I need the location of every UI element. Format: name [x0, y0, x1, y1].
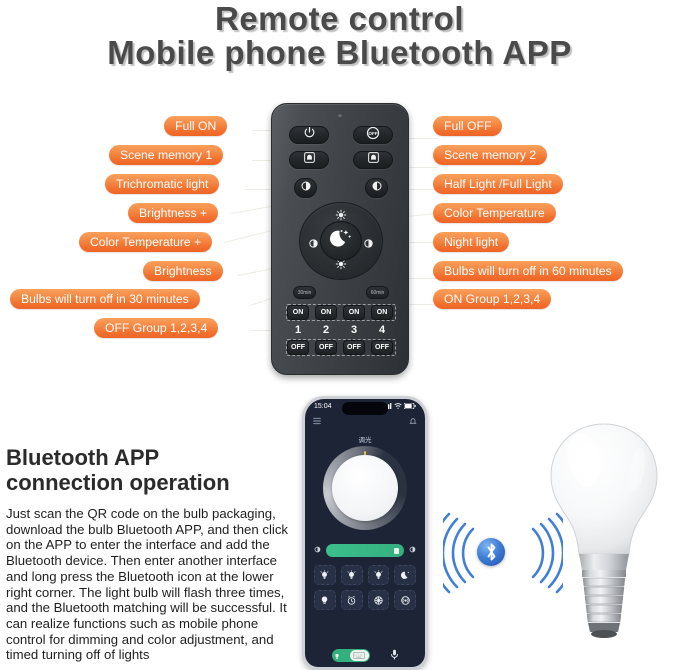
button-group-1-off[interactable]: OFF: [287, 340, 309, 355]
button-timer-60min[interactable]: 60min: [366, 286, 389, 299]
button-group-3-on[interactable]: ON: [343, 305, 365, 320]
infographic-page: Remote control Mobile phone Bluetooth AP…: [0, 0, 679, 670]
button-group-4-off[interactable]: OFF: [371, 340, 393, 355]
phone-screen: 15:04: [305, 399, 425, 667]
callout-off-30-minutes[interactable]: Bulbs will turn off in 30 minutes: [10, 289, 200, 309]
brightness-slider[interactable]: [326, 544, 404, 557]
grid-button-bulb-bright[interactable]: [368, 565, 390, 585]
button-group-2-off[interactable]: OFF: [315, 340, 337, 355]
section-heading: Bluetooth APP connection operation: [6, 446, 296, 495]
dimmer-dial-ring[interactable]: [323, 446, 407, 530]
callout-on-group[interactable]: ON Group 1,2,3,4: [433, 289, 551, 309]
callout-color-temperature[interactable]: Color Temperature: [433, 203, 556, 223]
button-full-on[interactable]: [289, 126, 329, 144]
brightness-high-icon: [409, 546, 416, 555]
slider-handle[interactable]: [394, 548, 399, 554]
menu-icon[interactable]: [313, 417, 321, 427]
half-circle-icon: [371, 179, 383, 197]
callout-half-full-light[interactable]: Half Light /Full Light: [433, 174, 563, 194]
grid-button-scene[interactable]: [368, 590, 390, 610]
callout-full-on[interactable]: Full ON: [164, 116, 227, 136]
title-line-2: Mobile phone Bluetooth APP: [0, 36, 679, 70]
callout-color-temperature-plus[interactable]: Color Temperature +: [79, 232, 212, 252]
group-button-area: ON ON ON ON 1 2 3 4 OFF OFF OFF OFF: [286, 304, 396, 356]
grid-button-bulb-warm[interactable]: [314, 565, 336, 585]
callout-trichromatic-light[interactable]: Trichromatic light: [105, 174, 219, 194]
section-heading-line-2: connection operation: [6, 471, 296, 496]
status-icons: [384, 403, 416, 411]
scene-memory-icon: [303, 151, 316, 169]
keyboard-icon: [350, 650, 369, 661]
grid-button-bulb-outline[interactable]: [314, 590, 336, 610]
wifi-icon: [394, 403, 402, 411]
callout-scene-memory-1[interactable]: Scene memory 1: [109, 145, 223, 165]
bluetooth-icon: [477, 538, 505, 566]
grid-button-alarm-timer[interactable]: [341, 590, 363, 610]
button-group-1-on[interactable]: ON: [287, 305, 309, 320]
color-temperature-icon: [300, 179, 312, 197]
status-time: 15:04: [314, 403, 332, 410]
button-scene-memory-1[interactable]: [289, 151, 329, 169]
ir-led-indicator: [338, 113, 342, 117]
callout-brightness-plus[interactable]: Brightness +: [128, 203, 218, 223]
power-toggle[interactable]: [332, 649, 370, 662]
button-half-full-light[interactable]: [365, 178, 388, 198]
remote-control: OFF: [271, 103, 409, 375]
page-title: Remote control Mobile phone Bluetooth AP…: [0, 0, 679, 71]
phone-mockup: 15:04: [302, 396, 428, 670]
callout-full-off[interactable]: Full OFF: [433, 116, 502, 136]
moon-stars-icon: [328, 227, 354, 256]
section-heading-line-1: Bluetooth APP: [6, 446, 296, 471]
grid-button-music-sync[interactable]: [394, 590, 416, 610]
phone-status-bar: 15:04: [305, 399, 425, 414]
scene-icon-grid: [305, 557, 425, 610]
power-off-icon: OFF: [366, 126, 380, 145]
grid-button-bulb-soft[interactable]: [341, 565, 363, 585]
color-temperature-down-icon[interactable]: [308, 236, 319, 254]
callout-night-light[interactable]: Night light: [433, 232, 509, 252]
button-night-light[interactable]: [320, 221, 362, 261]
bell-icon[interactable]: [409, 417, 417, 427]
button-scene-memory-2[interactable]: [353, 151, 393, 169]
brightness-slider-row: [305, 544, 425, 557]
group-number-3: 3: [343, 323, 365, 337]
button-group-2-on[interactable]: ON: [315, 305, 337, 320]
directional-pad[interactable]: [299, 202, 383, 280]
button-group-4-on[interactable]: ON: [371, 305, 393, 320]
bulb-small-icon: [334, 647, 340, 665]
callout-scene-memory-2[interactable]: Scene memory 2: [433, 145, 547, 165]
button-group-3-off[interactable]: OFF: [343, 340, 365, 355]
microphone-icon[interactable]: [390, 649, 399, 662]
callout-off-60-minutes[interactable]: Bulbs will turn off in 60 minutes: [433, 261, 623, 281]
button-trichromatic-light[interactable]: [294, 178, 317, 198]
dimmer-dial-knob[interactable]: [332, 455, 398, 521]
section-body-text: Just scan the QR code on the bulb packag…: [6, 506, 296, 663]
title-line-1: Remote control: [0, 2, 679, 36]
app-header: [305, 414, 425, 428]
group-number-2: 2: [315, 323, 337, 337]
led-bulb: [541, 418, 667, 668]
group-number-4: 4: [371, 323, 393, 337]
scene-memory-icon: [367, 151, 380, 169]
color-temperature-up-icon[interactable]: [363, 236, 374, 254]
brightness-low-icon: [314, 546, 321, 555]
dial-label: 调光: [305, 434, 425, 444]
battery-icon: [404, 403, 416, 411]
callout-brightness[interactable]: Brightness: [143, 261, 223, 281]
button-full-off[interactable]: OFF: [353, 126, 393, 144]
group-number-1: 1: [287, 323, 309, 337]
phone-footer-controls: [305, 649, 425, 662]
grid-button-night-mode[interactable]: [394, 565, 416, 585]
callout-off-group[interactable]: OFF Group 1,2,3,4: [94, 318, 218, 338]
power-icon: [303, 126, 316, 144]
dynamic-island: [342, 402, 388, 415]
svg-text:OFF: OFF: [368, 131, 377, 136]
dimmer-dial-section: 调光: [305, 434, 425, 538]
button-timer-30min[interactable]: 30min: [293, 286, 316, 299]
